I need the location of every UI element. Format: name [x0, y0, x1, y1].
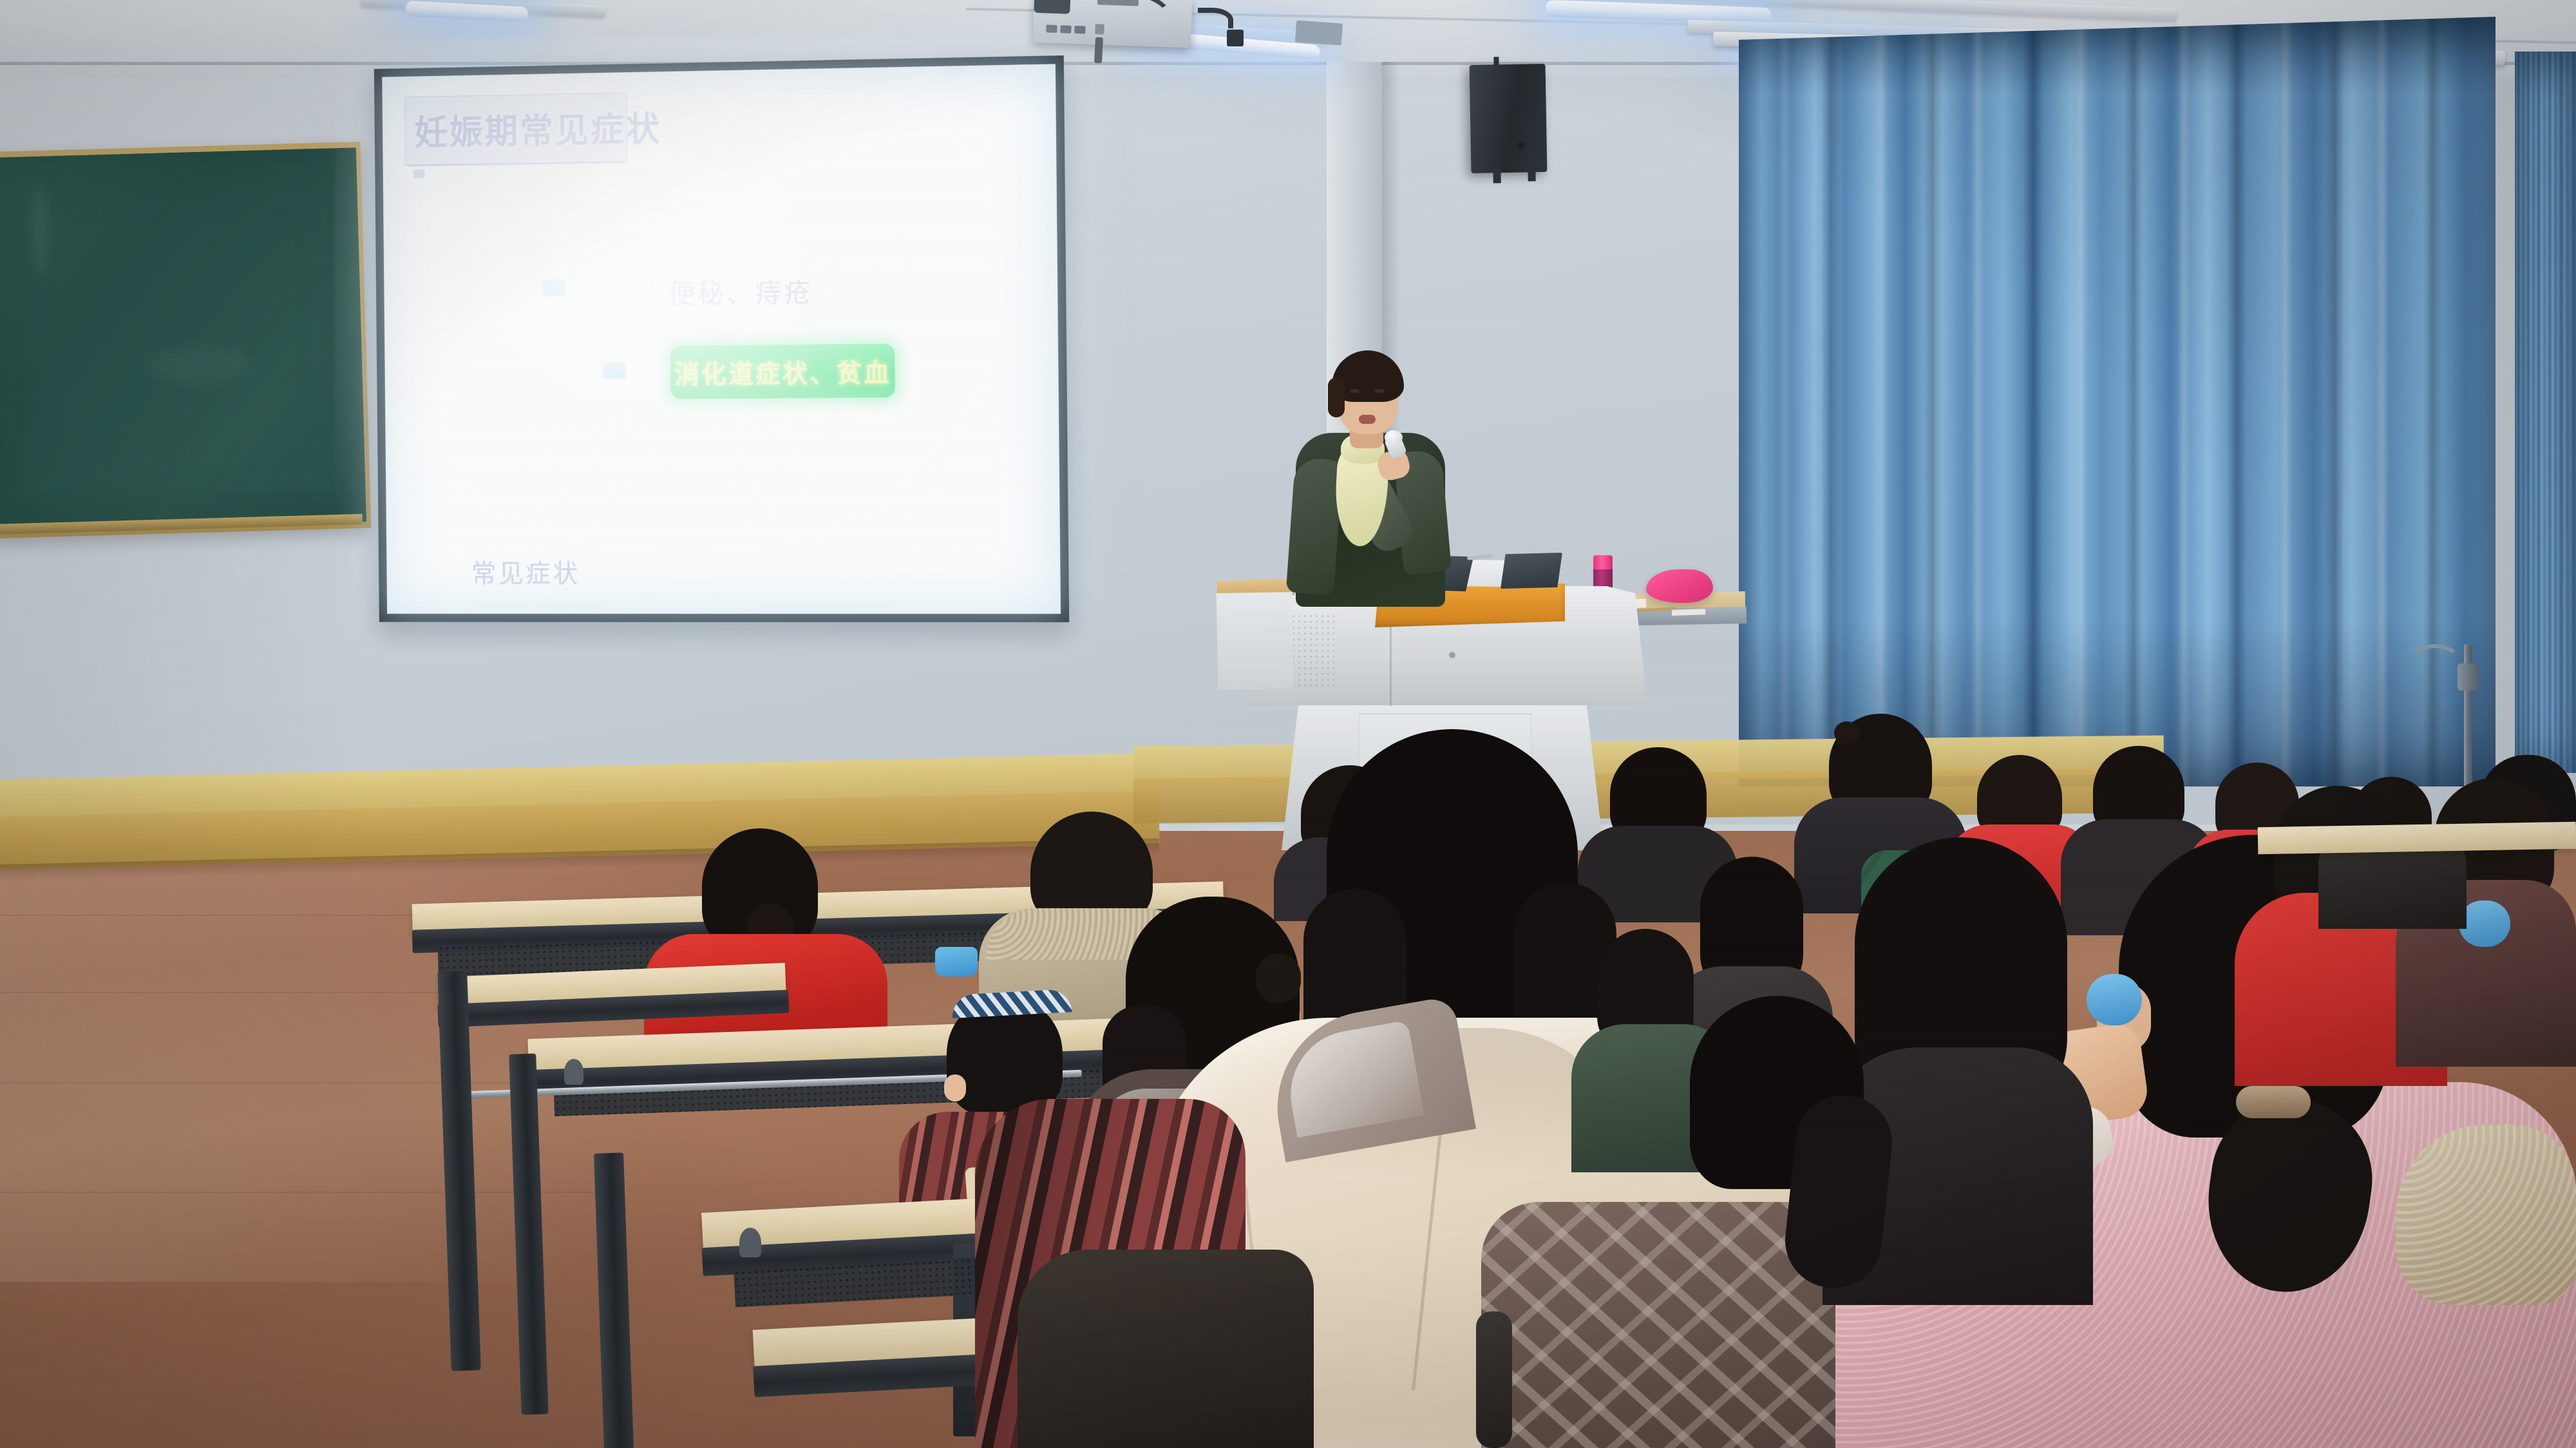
blue-cup-mid-right[interactable]	[2087, 974, 2142, 1025]
presenter-left-sleeve	[1286, 457, 1343, 596]
presenter-eye-left	[1350, 389, 1359, 393]
table-strip	[1672, 609, 1705, 616]
desk-knob-near	[739, 1228, 761, 1257]
left-side-table-body	[1217, 592, 1294, 690]
window-curtain-right-strip	[2515, 52, 2576, 773]
cable-clip	[1227, 30, 1244, 46]
blackboard	[0, 142, 371, 538]
presenter-hair-side	[1328, 377, 1345, 417]
student-coat-dark-left-front	[1018, 1250, 1314, 1448]
blue-cup[interactable]	[935, 947, 978, 976]
desk-back-right	[2258, 822, 2576, 855]
student-head-l1	[1834, 721, 1860, 745]
lens-haze	[335, 39, 1108, 644]
mic-stand-joint	[2458, 663, 2479, 691]
backpack-strap-left	[1476, 1311, 1512, 1448]
window-curtain	[1739, 17, 2495, 786]
presenter-mouth	[1359, 415, 1376, 424]
student-ear-r2b	[944, 1074, 966, 1101]
student-head-far-left	[1256, 953, 1301, 1004]
hair-tie	[2236, 1086, 2311, 1118]
desk-knob-mid-1	[564, 1059, 583, 1085]
pink-bag[interactable]	[1646, 569, 1713, 603]
blue-cup-right[interactable]	[2459, 900, 2510, 947]
blackboard-surface	[0, 148, 366, 532]
podium-seam	[1390, 616, 1392, 706]
light-cap-2	[1295, 21, 1343, 46]
presenter-eye-right	[1374, 389, 1384, 393]
podium-monitor-right[interactable]	[1501, 553, 1562, 589]
classroom-scene: THINKLEAVES 妊娠期常见症状 便秘、痔疮	[0, 0, 2576, 1448]
microphone-head	[1385, 430, 1403, 444]
thermos-cap[interactable]	[1593, 555, 1613, 569]
podium-lock	[1449, 652, 1455, 658]
wall-speaker	[1470, 64, 1548, 173]
fur-collar-right	[2396, 1125, 2576, 1305]
